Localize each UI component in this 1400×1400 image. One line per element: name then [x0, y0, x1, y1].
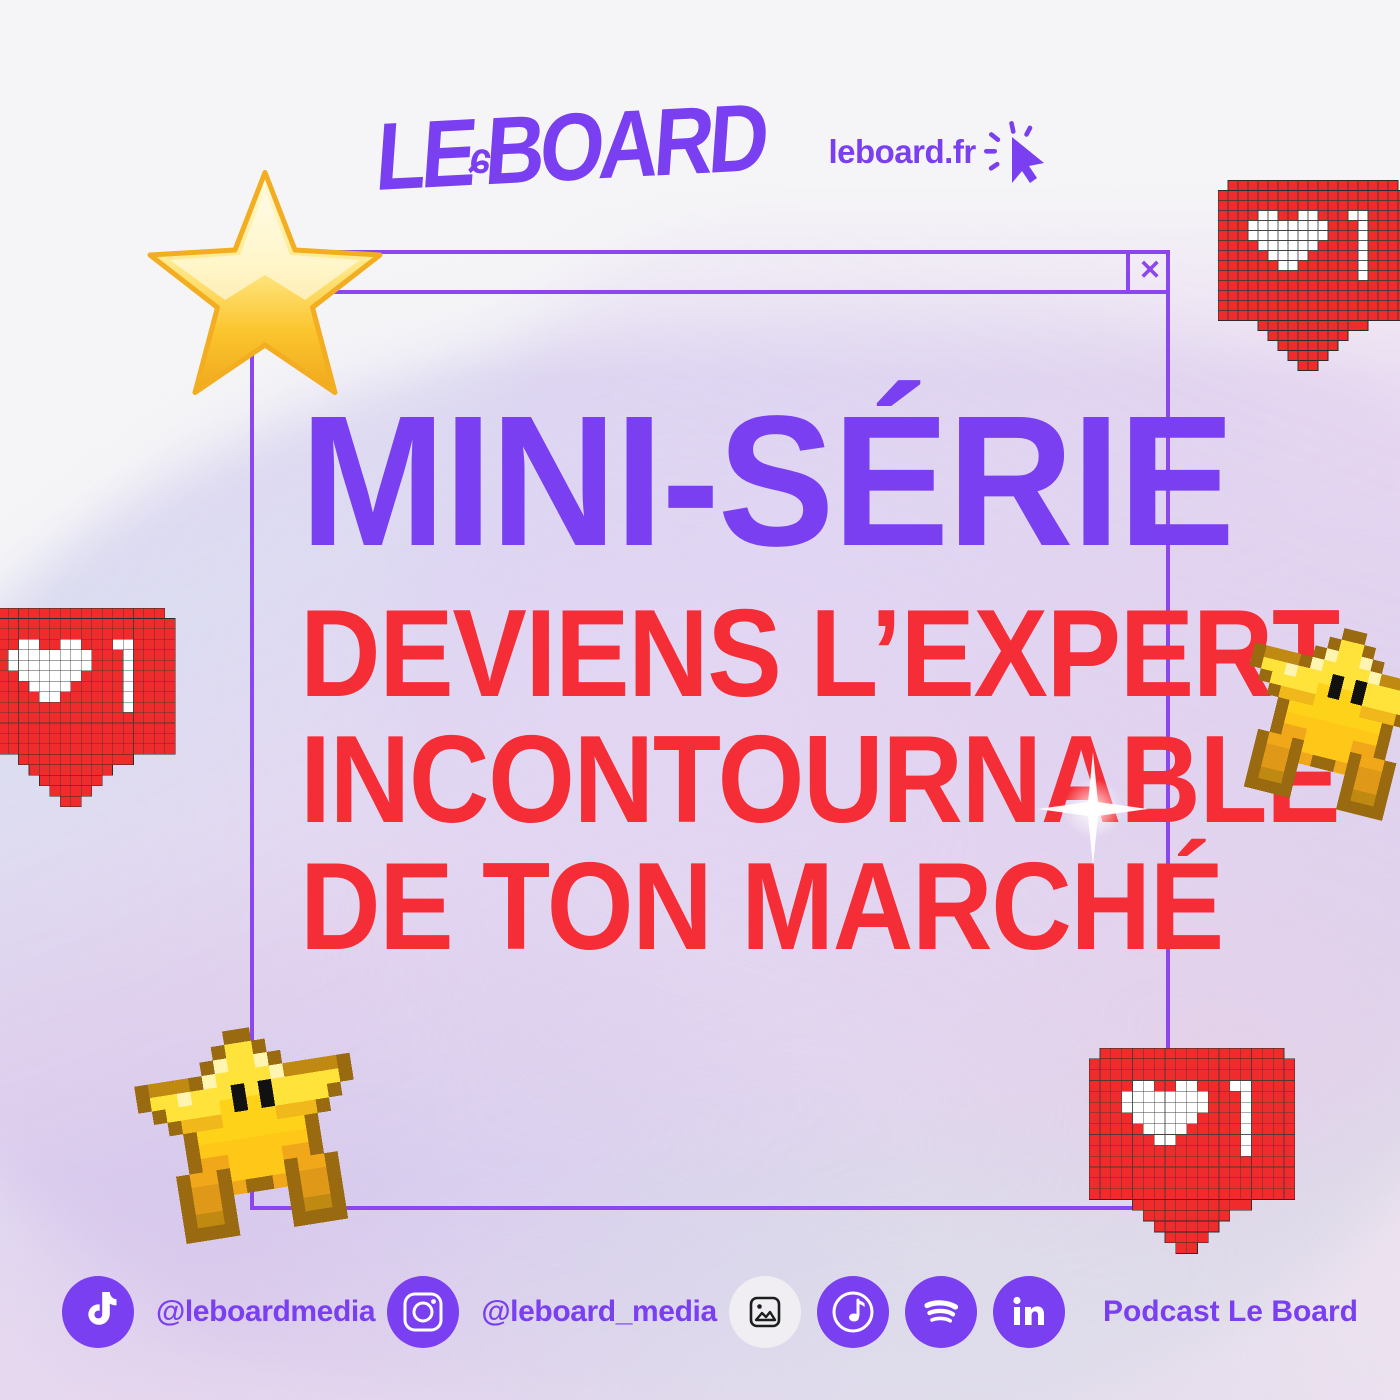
apple-podcasts-badge[interactable]: [817, 1276, 889, 1348]
url-text: leboard.fr: [828, 133, 975, 171]
pixel-heart-bubble-br: [1068, 1048, 1316, 1286]
social-instagram[interactable]: @leboard_media: [387, 1276, 716, 1348]
podcast-links: Podcast Le Board: [729, 1276, 1358, 1348]
linkedin-icon: [1008, 1291, 1050, 1333]
pixel-heart-bubble-left: [0, 608, 186, 838]
instagram-icon: [402, 1291, 444, 1333]
broken-image-placeholder[interactable]: [729, 1276, 801, 1348]
instagram-handle: @leboard_media: [481, 1295, 716, 1329]
social-tiktok[interactable]: @leboardmedia: [62, 1276, 375, 1348]
close-icon[interactable]: ✕: [1126, 250, 1170, 290]
click-cursor-icon: [982, 119, 1054, 185]
brand-url[interactable]: leboard.fr: [828, 119, 1053, 185]
headline-line-1: DEVIENS L’EXPERT: [300, 591, 1056, 717]
apple-podcasts-icon: [830, 1289, 876, 1335]
spotify-badge[interactable]: [905, 1276, 977, 1348]
headline-line-2: INCONTOURNABLE: [300, 717, 1056, 843]
headline-line-3: DE TON MARCHÉ: [300, 844, 1056, 970]
page-title: MINI-SÉRIE: [300, 396, 1090, 569]
social-footer: @leboardmedia @leboard_media: [62, 1270, 1358, 1354]
instagram-badge[interactable]: [387, 1276, 459, 1348]
pixel-heart-bubble-tr: [1218, 178, 1400, 403]
tiktok-handle: @leboardmedia: [156, 1295, 375, 1329]
glossy-star-emoji: [140, 160, 390, 410]
headline-block: MINI-SÉRIE DEVIENS L’EXPERT INCONTOURNAB…: [300, 396, 1140, 970]
linkedin-badge[interactable]: [993, 1276, 1065, 1348]
spotify-icon: [918, 1289, 964, 1335]
tiktok-badge[interactable]: [62, 1276, 134, 1348]
logo-text-board: BOARD: [482, 90, 767, 200]
podcast-label: Podcast Le Board: [1103, 1295, 1358, 1329]
tiktok-icon: [78, 1290, 118, 1334]
brand-logo: LEɕBOARD: [373, 90, 767, 206]
pixel-star-bottom-left: [124, 1012, 380, 1263]
broken-image-icon: [747, 1294, 783, 1330]
poster-canvas: ✕ LEɕBOARD leboard.fr MINI-SÉRIE DEVI: [0, 0, 1400, 1400]
